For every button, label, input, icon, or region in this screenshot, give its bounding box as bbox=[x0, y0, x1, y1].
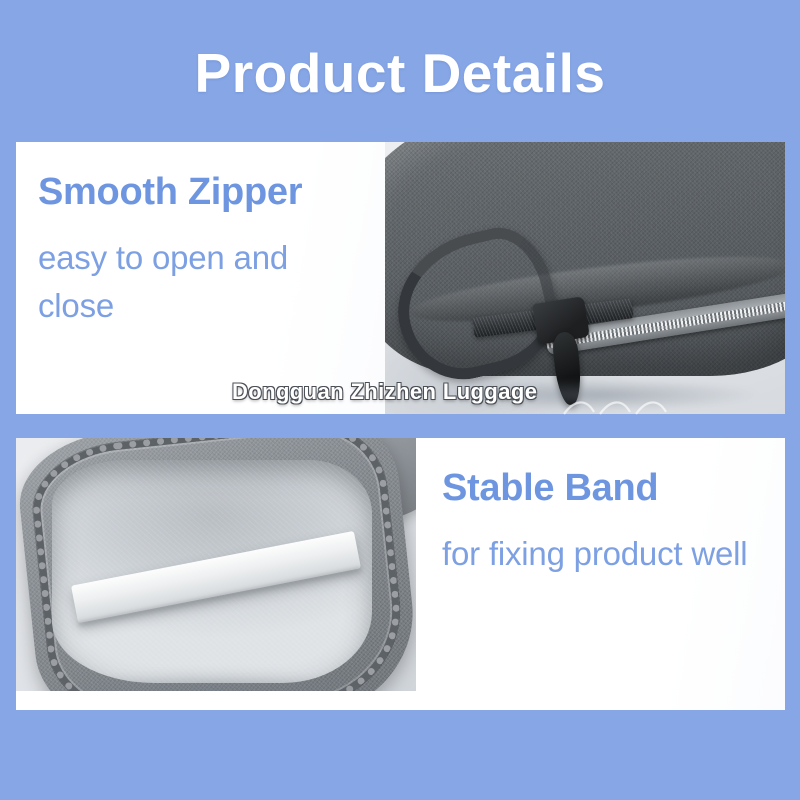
feature-headline: Smooth Zipper bbox=[38, 172, 369, 212]
product-details-poster: Product Details Smooth Zipper easy to op… bbox=[0, 0, 800, 800]
feature-text-block: Smooth Zipper easy to open and close bbox=[16, 142, 385, 414]
product-photo-interior bbox=[16, 438, 416, 710]
feature-subline: for fixing product well bbox=[442, 530, 769, 578]
photo-bottom-strip bbox=[16, 691, 416, 710]
product-photo-zipper bbox=[385, 142, 785, 414]
page-title: Product Details bbox=[195, 46, 606, 101]
poster-header: Product Details bbox=[0, 0, 800, 142]
feature-panel-smooth-zipper: Smooth Zipper easy to open and close bbox=[16, 142, 785, 414]
feature-subline: easy to open and close bbox=[38, 234, 369, 329]
feature-text-block: Stable Band for fixing product well bbox=[416, 438, 785, 710]
contact-shadow bbox=[433, 379, 761, 412]
feature-headline: Stable Band bbox=[442, 468, 769, 508]
feature-panel-stable-band: Stable Band for fixing product well bbox=[16, 438, 785, 710]
